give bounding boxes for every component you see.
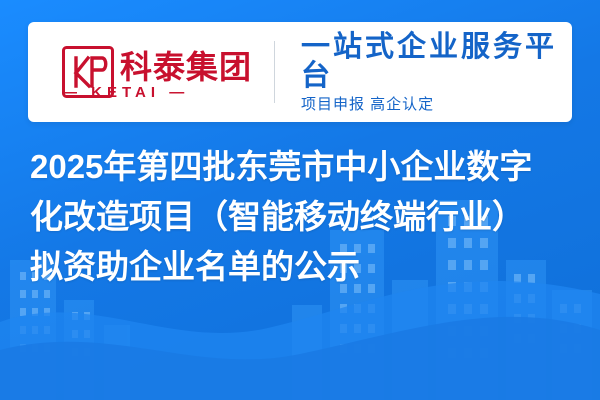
page-title: 2025年第四批东莞市中小企业数字 化改造项目（智能移动终端行业） 拟资助企业名… — [30, 142, 576, 292]
title-line-2: 化改造项目（智能移动终端行业） — [30, 192, 576, 242]
logo-name-en: — KETAI — — [62, 84, 189, 101]
logo-zone: 科泰集团 — KETAI — — [28, 22, 274, 122]
brand-header-card: 科泰集团 — KETAI — 一站式企业服务平台 项目申报 高企认定 — [28, 22, 572, 122]
slogan-main: 一站式企业服务平台 — [301, 33, 572, 91]
announcement-banner: 科泰集团 — KETAI — 一站式企业服务平台 项目申报 高企认定 2025年… — [0, 0, 600, 400]
title-line-1: 2025年第四批东莞市中小企业数字 — [30, 142, 576, 192]
title-line-3: 拟资助企业名单的公示 — [30, 242, 576, 292]
logo-name-cn: 科泰集团 — [120, 42, 252, 88]
slogan-sub: 项目申报 高企认定 — [301, 97, 572, 112]
slogan-zone: 一站式企业服务平台 项目申报 高企认定 — [275, 33, 572, 112]
